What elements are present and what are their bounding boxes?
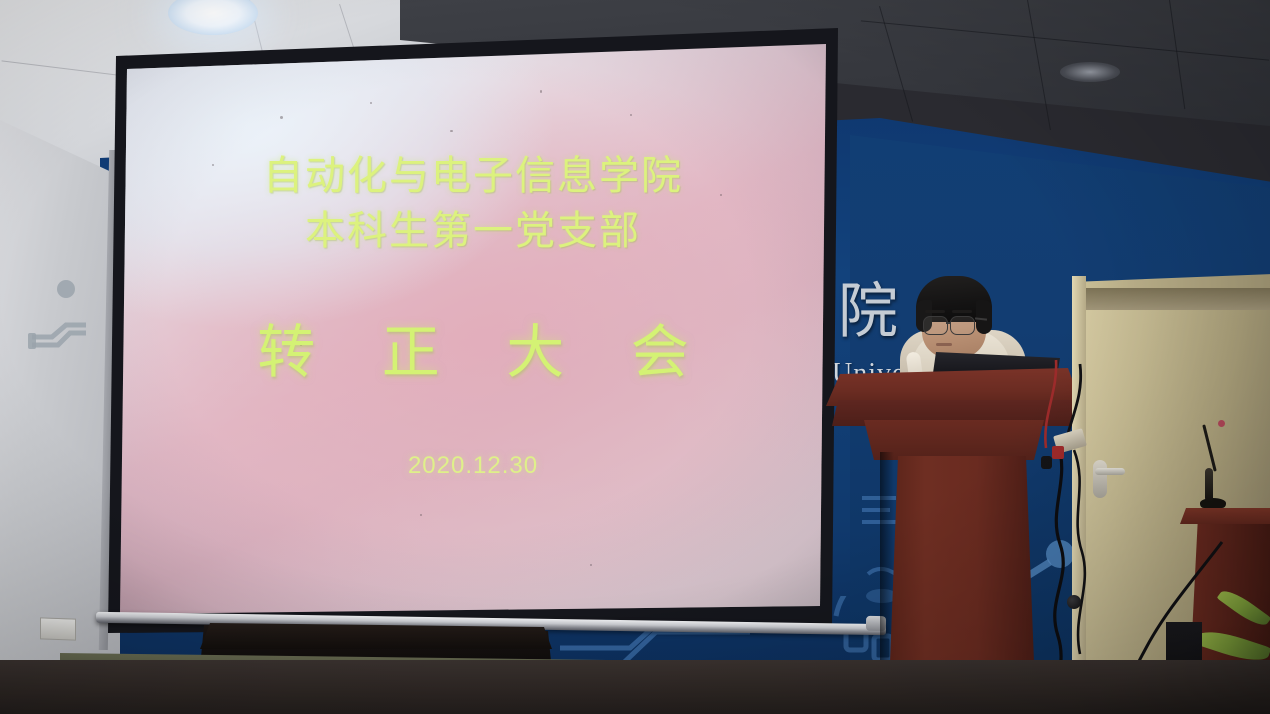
bench-top-rail (200, 623, 552, 649)
light-switch-plate[interactable] (40, 617, 76, 640)
circuit-board-graphic (24, 275, 90, 365)
door-header-reveal (1084, 288, 1270, 310)
person-eyebrow (952, 310, 972, 313)
cable-clip (1067, 595, 1081, 609)
red-plug-icon (1052, 446, 1064, 459)
second-podium-top (1180, 508, 1270, 524)
ceiling-light-recessed-icon (1060, 62, 1120, 82)
slide-title-block: 自动化与电子信息学院 本科生第一党支部 (120, 152, 826, 254)
microphone-base (1200, 498, 1226, 508)
person-mouth (936, 343, 952, 346)
slide-content: 自动化与电子信息学院 本科生第一党支部 转 正 大 会 2020.12.30 (120, 44, 826, 614)
floor (0, 660, 1270, 714)
person-eyebrow (925, 310, 945, 313)
microphone-stem (1205, 468, 1213, 502)
photo-scene: 院 Univers 自动化与电子信息学院 本科生第一党支部 转 正 大 会 20… (0, 0, 1270, 714)
slide-org-line-2: 本科生第一党支部 (120, 207, 826, 254)
microphone-capsule-icon (1218, 420, 1225, 427)
slide-main-title: 转 正 大 会 (120, 324, 826, 382)
glasses-lens-left (923, 316, 948, 335)
glasses-lens-right (950, 316, 975, 335)
slide-org-line-1: 自动化与电子信息学院 (120, 152, 826, 199)
cable-clip (1041, 456, 1052, 469)
wall-sign-hanzi: 院 (838, 282, 900, 342)
glasses-bridge (946, 322, 951, 324)
slide-date: 2020.12.30 (120, 452, 826, 480)
